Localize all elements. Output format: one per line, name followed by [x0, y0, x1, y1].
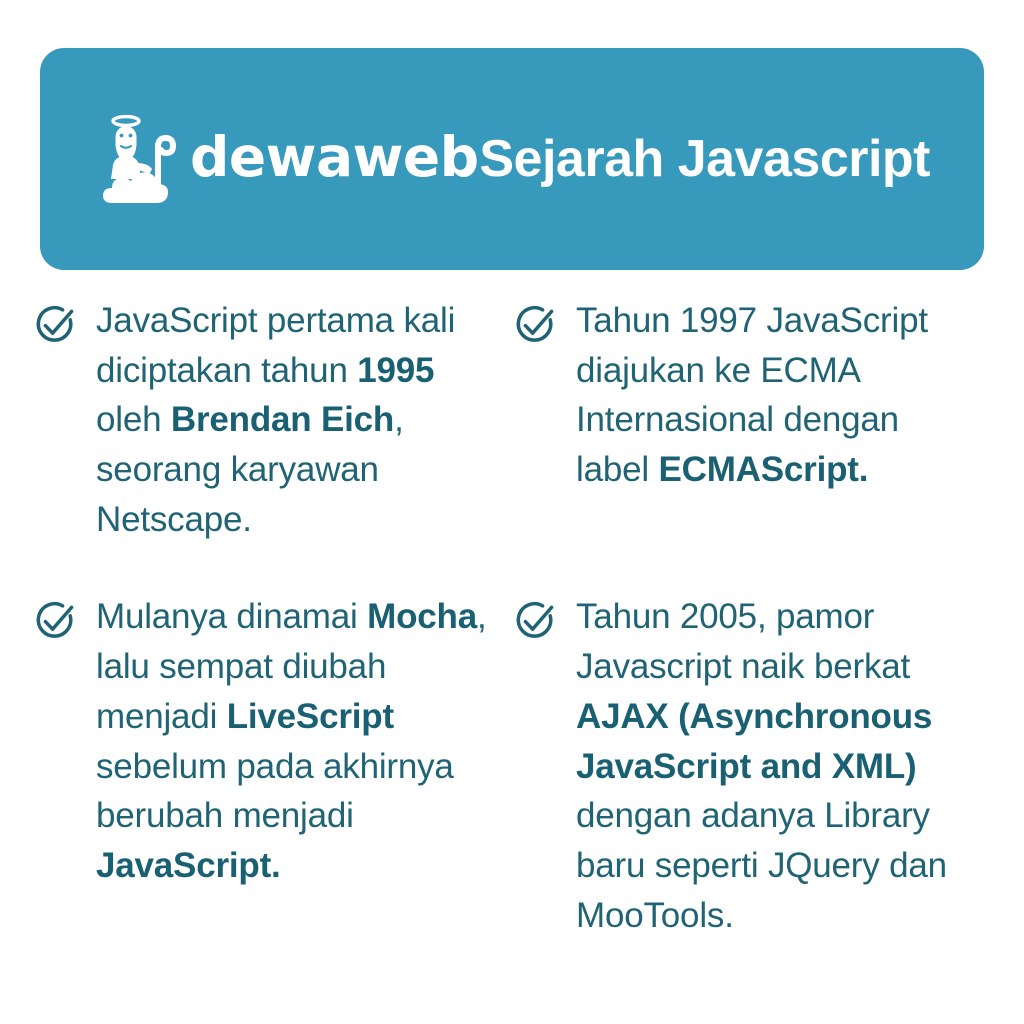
fact-text: JavaScript pertama kali diciptakan tahun…	[96, 296, 488, 544]
fact-item-1997-ecma: Tahun 1997 JavaScript diajukan ke ECMA I…	[512, 296, 992, 544]
check-circle-icon	[32, 302, 78, 348]
fact-list: JavaScript pertama kali diciptakan tahun…	[32, 296, 992, 940]
infographic-root: dewaweb Sejarah Javascript JavaScript pe…	[0, 0, 1024, 1024]
fact-text: Tahun 1997 JavaScript diajukan ke ECMA I…	[576, 296, 968, 495]
fact-text: Tahun 2005, pamor Javascript naik berkat…	[576, 592, 968, 940]
fact-item-1995-brendan-eich: JavaScript pertama kali diciptakan tahun…	[32, 296, 512, 544]
fact-item-mocha-livescript: Mulanya dinamai Mocha, lalu sempat diuba…	[32, 592, 512, 940]
header-card: dewaweb Sejarah Javascript	[40, 48, 984, 270]
check-circle-icon	[32, 598, 78, 644]
fact-text: Mulanya dinamai Mocha, lalu sempat diuba…	[96, 592, 488, 890]
dewaweb-angel-cloud-logo-icon	[102, 113, 180, 205]
brand-lockup: dewaweb	[102, 113, 479, 205]
check-circle-icon	[512, 302, 558, 348]
brand-wordmark: dewaweb	[190, 130, 479, 189]
fact-item-2005-ajax: Tahun 2005, pamor Javascript naik berkat…	[512, 592, 992, 940]
check-circle-icon	[512, 598, 558, 644]
page-title: Sejarah Javascript	[479, 133, 930, 185]
